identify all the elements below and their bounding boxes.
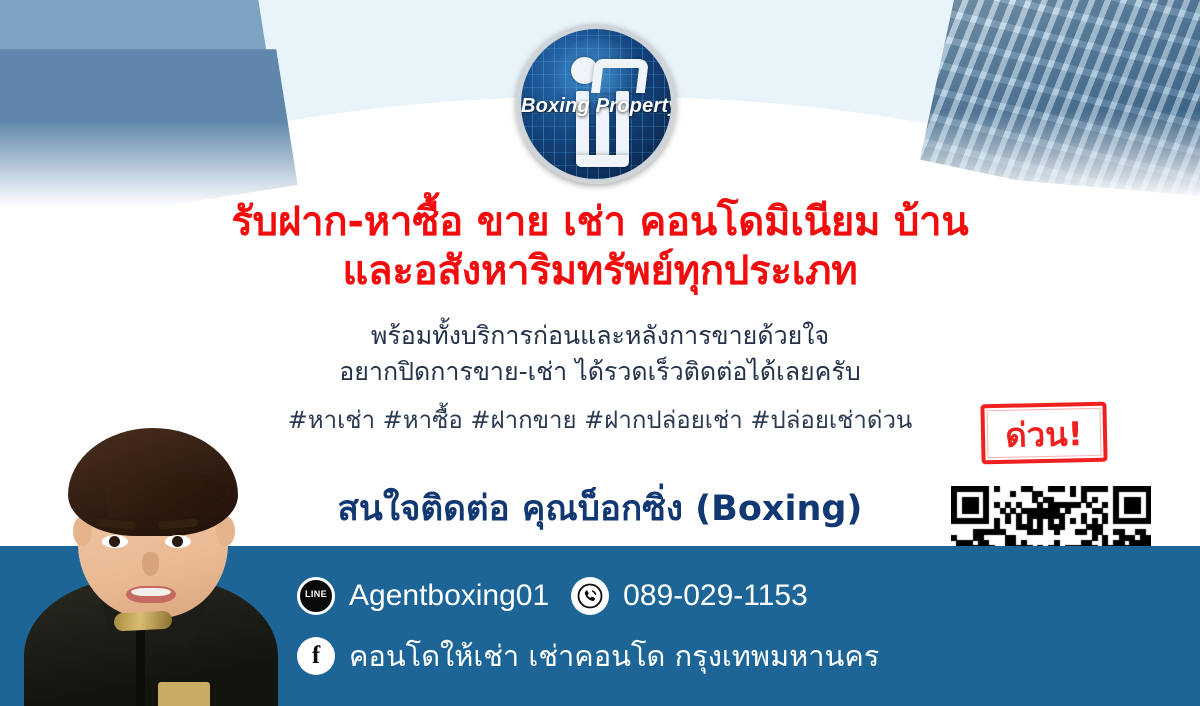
- headline-line-2: และอสังหาริมทรัพย์ทุกประเภท: [0, 247, 1200, 296]
- portrait-nose: [142, 552, 159, 576]
- subheading-line-2: อยากปิดการขาย-เช่า ได้รวดเร็วติดต่อได้เล…: [0, 354, 1200, 390]
- phone-number-value: 089-029-1153: [623, 579, 808, 613]
- logo-roof-icon: [591, 59, 649, 93]
- portrait-eye-left: [102, 535, 128, 548]
- line-icon[interactable]: LINE: [297, 577, 335, 615]
- logo-building-base: [576, 155, 629, 167]
- headline-line-1: รับฝาก-หาซื้อ ขาย เช่า คอนโดมิเนียม บ้าน: [231, 199, 968, 245]
- agent-portrait: [18, 420, 290, 706]
- facebook-icon[interactable]: f: [297, 637, 335, 675]
- portrait-teeth: [131, 588, 171, 596]
- page-title: รับฝาก-หาซื้อ ขาย เช่า คอนโดมิเนียม บ้าน…: [0, 198, 1200, 296]
- contact-row-line-phone: LINE Agentboxing01 089-029-1153: [297, 566, 937, 626]
- subheading-line-1: พร้อมทั้งบริการก่อนและหลังการขายด้วยใจ: [0, 318, 1200, 354]
- contact-row-facebook: f คอนโดให้เช่า เช่าคอนโด กรุงเทพมหานคร: [297, 626, 937, 686]
- portrait-eye-right: [165, 535, 191, 548]
- line-icon-label: LINE: [300, 589, 332, 599]
- line-id-value: Agentboxing01: [349, 579, 549, 613]
- portrait-brooch: [114, 610, 173, 631]
- facebook-glyph: f: [312, 643, 320, 668]
- contact-details: LINE Agentboxing01 089-029-1153 f คอนโดใ…: [297, 566, 937, 686]
- subheading: พร้อมทั้งบริการก่อนและหลังการขายด้วยใจ อ…: [0, 318, 1200, 390]
- logo-wordmark: Boxing Property: [521, 95, 671, 118]
- urgent-stamp-label: ด่วน!: [985, 410, 1104, 460]
- facebook-page-value: คอนโดให้เช่า เช่าคอนโด กรุงเทพมหานคร: [349, 639, 879, 673]
- portrait-name-badge: [158, 682, 210, 706]
- phone-icon[interactable]: [571, 577, 609, 615]
- urgent-stamp: ด่วน!: [980, 402, 1107, 465]
- advertisement-poster: Boxing Property รับฝาก-หาซื้อ ขาย เช่า ค…: [0, 0, 1200, 706]
- boxing-property-logo: Boxing Property: [516, 24, 676, 184]
- line-icon-tail: [311, 601, 319, 608]
